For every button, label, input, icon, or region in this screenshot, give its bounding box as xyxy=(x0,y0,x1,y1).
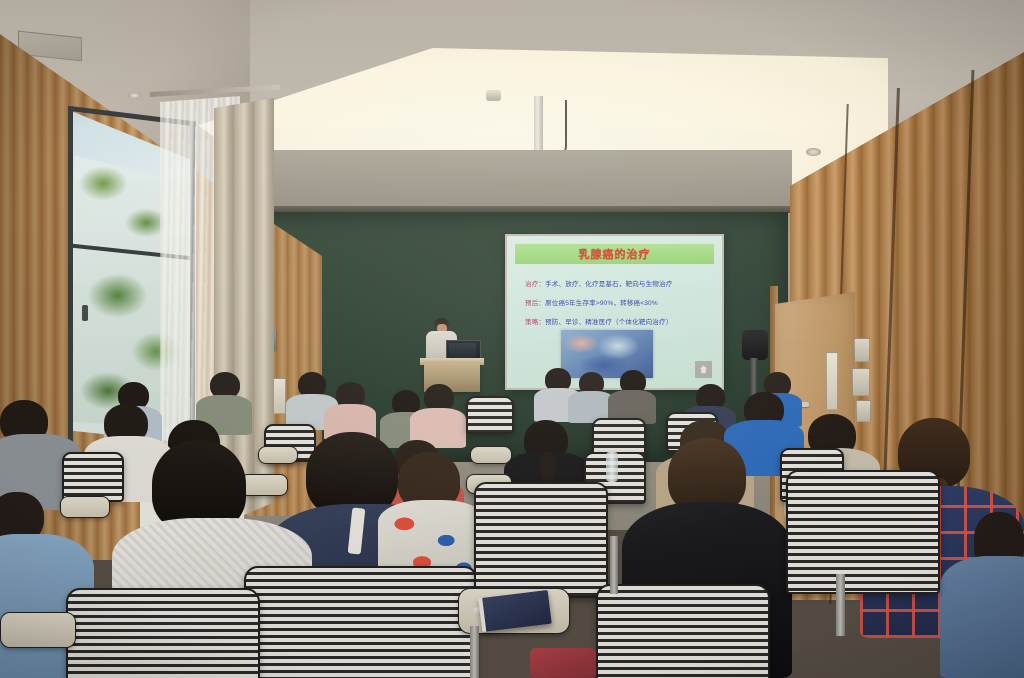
projection-screen: 乳腺癌的治疗 治疗：手术、放疗、化疗是基石，靶向与生物治疗 预后：原位癌5年生存… xyxy=(505,234,724,390)
lecture-chair[interactable] xyxy=(596,584,770,678)
slide-bullet-1-label: 治疗： xyxy=(525,281,545,288)
lecture-chair[interactable] xyxy=(466,396,514,434)
window-mullion xyxy=(68,106,73,445)
water-bottle[interactable] xyxy=(606,452,618,482)
slide-title-bar: 乳腺癌的治疗 xyxy=(515,244,714,264)
lecture-chair[interactable] xyxy=(62,452,124,502)
slide-bullet-2-label: 预后： xyxy=(525,300,545,307)
chair-tablet-arm[interactable] xyxy=(0,612,76,648)
wall-switch-plate[interactable] xyxy=(852,368,870,396)
lecture-hall-photo: EPSON 乳腺癌的治疗 治疗：手术、放疗、化疗是基石，靶向与生物治疗 xyxy=(0,0,1024,678)
chair-tablet-arm[interactable] xyxy=(60,496,110,518)
loudspeaker xyxy=(742,330,768,360)
slide-bullet-2-text: 原位癌5年生存率>90%，转移癌<30% xyxy=(545,300,658,307)
projector-mount-pole xyxy=(534,96,543,158)
slide-bullet-3: 策略：预防、早诊、精准医疗（个体化靶向治疗） xyxy=(525,316,672,326)
hospital-logo-icon xyxy=(698,364,709,375)
chair-leg xyxy=(470,626,479,678)
lecture-chair[interactable] xyxy=(474,482,608,598)
chair-leg xyxy=(836,574,845,636)
wall-switch-plate[interactable] xyxy=(856,400,871,422)
lecture-chair[interactable] xyxy=(66,588,260,678)
red-bag[interactable] xyxy=(530,648,596,678)
chair-tablet-arm[interactable] xyxy=(470,446,512,464)
access-control-panel[interactable] xyxy=(826,352,838,410)
slide-bullet-3-text: 预防、早诊、精准医疗（个体化靶向治疗） xyxy=(545,319,672,326)
window-handle[interactable] xyxy=(82,305,88,321)
chair-leg xyxy=(610,536,618,594)
lecture-chair[interactable] xyxy=(786,470,940,594)
wall-switch-plate[interactable] xyxy=(854,338,870,362)
slide-bullet-1: 治疗：手术、放疗、化疗是基石，靶向与生物治疗 xyxy=(525,278,672,288)
smoke-detector-icon xyxy=(486,90,501,101)
slide-bullet-2: 预后：原位癌5年生存率>90%，转移癌<30% xyxy=(525,297,658,307)
front-wall-upper-band xyxy=(232,150,792,212)
slide-bullet-3-label: 策略： xyxy=(525,319,545,326)
slide-bullet-1-text: 手术、放疗、化疗是基石，靶向与生物治疗 xyxy=(545,281,672,288)
slide-title: 乳腺癌的治疗 xyxy=(579,246,651,262)
downlight-icon xyxy=(806,148,821,156)
downlight-icon xyxy=(128,92,141,99)
presentation-slide: 乳腺癌的治疗 治疗：手术、放疗、化疗是基石，靶向与生物治疗 预后：原位癌5年生存… xyxy=(507,236,722,388)
lecture-chair[interactable] xyxy=(244,566,478,678)
chair-tablet-arm[interactable] xyxy=(240,474,288,496)
slide-logo-badge xyxy=(695,361,712,378)
chair-tablet-arm[interactable] xyxy=(258,446,298,464)
